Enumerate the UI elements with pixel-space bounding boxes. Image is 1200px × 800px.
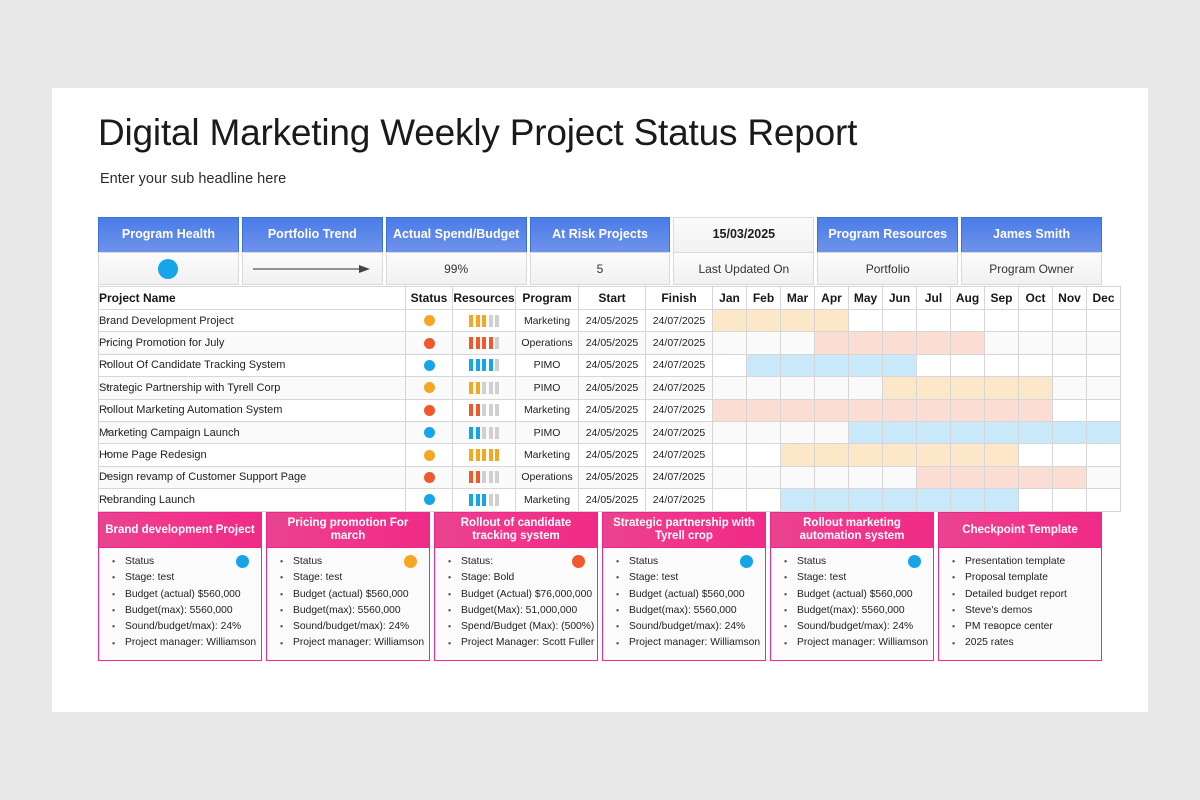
- cell-start: 24/05/2025: [579, 332, 646, 354]
- page-title: Digital Marketing Weekly Project Status …: [98, 112, 857, 154]
- gantt-bar-segment: [849, 399, 883, 421]
- list-item: •Status: [271, 554, 425, 570]
- cell-resources: [453, 421, 516, 443]
- gantt-bar-segment: [1087, 421, 1121, 443]
- list-item-label: Sound/budget/max): 24%: [125, 622, 241, 632]
- cell-start: 24/05/2025: [579, 399, 646, 421]
- bullet-icon: •: [112, 607, 115, 616]
- resource-bar: [495, 449, 499, 461]
- gantt-cell: [1053, 444, 1087, 466]
- cell-program: Operations: [516, 466, 579, 488]
- gantt-bar-segment: [815, 399, 849, 421]
- month-header-aug: Aug: [951, 287, 985, 310]
- gantt-bar-segment: [917, 466, 951, 488]
- gantt-cell: [1087, 466, 1121, 488]
- gantt-cell: [747, 444, 781, 466]
- table-row[interactable]: •Rollout Of Candidate Tracking SystemPIM…: [99, 354, 1121, 376]
- gantt-bar-segment: [985, 399, 1019, 421]
- gantt-cell: [1053, 332, 1087, 354]
- project-name-label: Rollout Of Candidate Tracking System: [99, 359, 285, 371]
- bullet-icon: •: [952, 607, 955, 616]
- gantt-cell: [815, 421, 849, 443]
- resource-bar: [489, 337, 493, 349]
- kpi-value: 5: [530, 252, 671, 285]
- bullet-icon: •: [106, 360, 110, 370]
- cell-status: [406, 444, 453, 466]
- gantt-bar-segment: [883, 399, 917, 421]
- list-item-label: Budget(max): 5560,000: [797, 606, 905, 616]
- bullet-icon: •: [448, 623, 451, 632]
- kpi-label: Actual Spend/Budget: [386, 217, 527, 252]
- kpi-card-5[interactable]: Program ResourcesPortfolio: [817, 217, 958, 285]
- gantt-bar-segment: [951, 466, 985, 488]
- gantt-cell: [1053, 354, 1087, 376]
- gantt-cell: [1087, 399, 1121, 421]
- cell-finish: 24/07/2025: [646, 466, 713, 488]
- status-dot-icon: [424, 360, 435, 371]
- list-item: •Project manager: Williamson: [271, 635, 425, 651]
- gantt-cell: [1087, 377, 1121, 399]
- gantt-cell: [747, 377, 781, 399]
- gantt-cell: [883, 310, 917, 332]
- gantt-bar-segment: [917, 421, 951, 443]
- gantt-bar-segment: [1019, 399, 1053, 421]
- list-item: •Sound/budget/max): 24%: [607, 619, 761, 635]
- gantt-bar-segment: [951, 399, 985, 421]
- cell-project-name: •Pricing Promotion for July: [99, 332, 406, 354]
- detail-list: •Status•Stage: test•Budget (actual) $560…: [103, 554, 257, 652]
- list-item: •Spend/Budget (Max): (500%): [439, 619, 593, 635]
- gantt-cell: [781, 421, 815, 443]
- kpi-card-2[interactable]: Actual Spend/Budget99%: [386, 217, 527, 285]
- resource-bar: [482, 449, 486, 461]
- table-header-row: Project NameStatusResourcesProgramStartF…: [99, 287, 1121, 310]
- table-row[interactable]: •Pricing Promotion for JulyOperations24/…: [99, 332, 1121, 354]
- list-item: •Status:: [439, 554, 593, 570]
- kpi-value: [242, 252, 383, 285]
- kpi-label: At Risk Projects: [530, 217, 671, 252]
- project-detail-cards: Brand development Project•Status•Stage: …: [98, 512, 1102, 661]
- resource-bar: [469, 404, 473, 416]
- project-name-label: Marketing Campaign Launch: [99, 427, 240, 439]
- list-item-label: Presentation template: [965, 557, 1065, 567]
- gantt-cell: [849, 377, 883, 399]
- detail-list: •Status:•Stage: Bold•Budget (Actual) $76…: [439, 554, 593, 652]
- detail-card[interactable]: Checkpoint Template•Presentation templat…: [938, 512, 1102, 661]
- gantt-cell: [1019, 354, 1053, 376]
- resource-bar: [476, 382, 480, 394]
- gantt-cell: [1053, 310, 1087, 332]
- resource-bar: [476, 471, 480, 483]
- cell-project-name: •Home Page Redesign: [99, 444, 406, 466]
- col-header-start[interactable]: Start: [579, 287, 646, 310]
- cell-program: PIMO: [516, 421, 579, 443]
- list-item: •Proposal template: [943, 570, 1097, 586]
- list-item-label: Budget (actual) $560,000: [293, 590, 409, 600]
- list-item: •Sound/budget/max): 24%: [271, 619, 425, 635]
- gantt-cell: [883, 466, 917, 488]
- list-item: •Budget(max): 5560,000: [607, 603, 761, 619]
- gantt-bar-segment: [1019, 377, 1053, 399]
- gantt-cell: [1087, 310, 1121, 332]
- month-header-dec: Dec: [1087, 287, 1121, 310]
- cell-status: [406, 377, 453, 399]
- list-item: •Stage: test: [271, 570, 425, 586]
- gantt-bar-segment: [747, 310, 781, 332]
- gantt-cell: [951, 310, 985, 332]
- gantt-cell: [781, 332, 815, 354]
- cell-status: [406, 421, 453, 443]
- gantt-cell: [1053, 489, 1087, 511]
- gantt-cell: [985, 310, 1019, 332]
- resource-bar: [469, 427, 473, 439]
- cell-program: Marketing: [516, 310, 579, 332]
- gantt-bar-segment: [985, 421, 1019, 443]
- detail-card-title: Pricing promotion For march: [266, 512, 430, 548]
- gantt-cell: [747, 332, 781, 354]
- list-item: •Status: [607, 554, 761, 570]
- list-item: •Presentation template: [943, 554, 1097, 570]
- bullet-icon: •: [280, 590, 283, 599]
- resource-bar: [469, 337, 473, 349]
- gantt-cell: [1019, 332, 1053, 354]
- gantt-bar-segment: [917, 332, 951, 354]
- resource-meter: [453, 449, 515, 461]
- gantt-cell: [713, 332, 747, 354]
- resource-bar: [476, 359, 480, 371]
- list-item-label: 2025 rates: [965, 638, 1014, 648]
- month-header-feb: Feb: [747, 287, 781, 310]
- list-item: •Stage: Bold: [439, 570, 593, 586]
- gantt-cell: [1019, 444, 1053, 466]
- gantt-cell: [781, 377, 815, 399]
- table-row[interactable]: •Brand Development ProjectMarketing24/05…: [99, 310, 1121, 332]
- status-dot-icon: [424, 427, 435, 438]
- cell-start: 24/05/2025: [579, 377, 646, 399]
- cell-start: 24/05/2025: [579, 444, 646, 466]
- resource-bar: [482, 315, 486, 327]
- list-item: •Steve's demos: [943, 603, 1097, 619]
- resource-bar: [482, 494, 486, 506]
- list-item-label: Sound/budget/max): 24%: [797, 622, 913, 632]
- list-item: •Stage: test: [103, 570, 257, 586]
- list-item-label: Steve's demos: [965, 606, 1032, 616]
- detail-card-title: Strategic partnership with Tyrell crop: [602, 512, 766, 548]
- table-row[interactable]: •Marketing Campaign LaunchPIMO24/05/2025…: [99, 421, 1121, 443]
- cell-project-name: •Strategic Partnership with Tyrell Corp: [99, 377, 406, 399]
- col-header-program[interactable]: Program: [516, 287, 579, 310]
- bullet-icon: •: [112, 623, 115, 632]
- project-name-label: Brand Development Project: [99, 315, 234, 327]
- cell-resources: [453, 310, 516, 332]
- cell-resources: [453, 444, 516, 466]
- table-row[interactable]: •Rebranding LaunchMarketing24/05/202524/…: [99, 489, 1121, 511]
- bullet-icon: •: [112, 558, 115, 567]
- gantt-bar-segment: [1019, 421, 1053, 443]
- kpi-label: 15/03/2025: [673, 217, 814, 252]
- table-row[interactable]: •Rollout Marketing Automation SystemMark…: [99, 399, 1121, 421]
- status-dot-icon: [424, 494, 435, 505]
- cell-resources: [453, 399, 516, 421]
- detail-list: •Status•Stage: test•Budget (actual) $560…: [775, 554, 929, 652]
- list-item-label: Stage: test: [797, 573, 846, 583]
- gantt-cell: [1087, 332, 1121, 354]
- table-row[interactable]: •Design revamp of Customer Support PageO…: [99, 466, 1121, 488]
- bullet-icon: •: [784, 590, 787, 599]
- cell-program: Marketing: [516, 489, 579, 511]
- kpi-card-4[interactable]: 15/03/2025Last Updated On: [673, 217, 814, 285]
- resource-bar: [489, 471, 493, 483]
- detail-card[interactable]: Strategic partnership with Tyrell crop•S…: [602, 512, 766, 661]
- cell-program: PIMO: [516, 354, 579, 376]
- resource-bar: [489, 494, 493, 506]
- resource-bar: [476, 337, 480, 349]
- bullet-icon: •: [448, 590, 451, 599]
- project-name-label: Rebranding Launch: [99, 494, 195, 506]
- resource-bar: [469, 382, 473, 394]
- gantt-bar-segment: [815, 489, 849, 511]
- bullet-icon: •: [112, 590, 115, 599]
- detail-card[interactable]: Rollout of candidate tracking system•Sta…: [434, 512, 598, 661]
- detail-card-title: Rollout of candidate tracking system: [434, 512, 598, 548]
- resource-bar: [469, 494, 473, 506]
- list-item-label: Budget (actual) $560,000: [797, 590, 913, 600]
- resource-bar: [482, 427, 486, 439]
- gantt-cell: [849, 310, 883, 332]
- resource-bar: [489, 382, 493, 394]
- list-item-label: Project manager: Williamson: [293, 638, 424, 648]
- resource-bar: [482, 382, 486, 394]
- status-dot-icon: [424, 450, 435, 461]
- cell-start: 24/05/2025: [579, 489, 646, 511]
- gantt-bar-segment: [883, 354, 917, 376]
- detail-card-body: •Presentation template•Proposal template…: [938, 548, 1102, 661]
- resource-bar: [495, 382, 499, 394]
- bullet-icon: •: [784, 639, 787, 648]
- project-name-label: Pricing Promotion for July: [99, 337, 224, 349]
- gantt-bar-segment: [883, 332, 917, 354]
- bullet-icon: •: [448, 558, 451, 567]
- kpi-card-3[interactable]: At Risk Projects5: [530, 217, 671, 285]
- list-item: •Project Manager: Scott Fuller: [439, 635, 593, 651]
- resource-bar: [482, 471, 486, 483]
- resource-bar: [495, 471, 499, 483]
- kpi-label: Program Resources: [817, 217, 958, 252]
- list-item-label: Sound/budget/max): 24%: [629, 622, 745, 632]
- list-item: •Budget(max): 5560,000: [775, 603, 929, 619]
- gantt-cell: [985, 354, 1019, 376]
- detail-card-body: •Status:•Stage: Bold•Budget (Actual) $76…: [434, 548, 598, 661]
- gantt-bar-segment: [781, 489, 815, 511]
- bullet-icon: •: [448, 607, 451, 616]
- gantt-cell: [1053, 399, 1087, 421]
- list-item: •Sound/budget/max): 24%: [775, 619, 929, 635]
- resource-bar: [476, 494, 480, 506]
- gantt-bar-segment: [883, 421, 917, 443]
- gantt-bar-segment: [747, 354, 781, 376]
- list-item-label: Status:: [461, 557, 493, 567]
- bullet-icon: •: [952, 574, 955, 583]
- bullet-icon: •: [280, 607, 283, 616]
- cell-start: 24/05/2025: [579, 310, 646, 332]
- resource-meter: [453, 337, 515, 349]
- bullet-icon: •: [280, 558, 283, 567]
- gantt-bar-segment: [781, 399, 815, 421]
- gantt-bar-segment: [815, 332, 849, 354]
- resource-bar: [495, 315, 499, 327]
- list-item-label: Spend/Budget (Max): (500%): [461, 622, 594, 632]
- month-header-oct: Oct: [1019, 287, 1053, 310]
- resource-meter: [453, 404, 515, 416]
- cell-program: Operations: [516, 332, 579, 354]
- bullet-icon: •: [280, 623, 283, 632]
- project-name-label: Home Page Redesign: [99, 449, 207, 461]
- slide-canvas: Digital Marketing Weekly Project Status …: [52, 88, 1148, 712]
- list-item-label: Budget(max): 5560,000: [629, 606, 737, 616]
- table-row[interactable]: •Strategic Partnership with Tyrell CorpP…: [99, 377, 1121, 399]
- detail-card-body: •Status•Stage: test•Budget (actual) $560…: [98, 548, 262, 661]
- resource-bar: [495, 404, 499, 416]
- cell-finish: 24/07/2025: [646, 332, 713, 354]
- status-dot-icon: [424, 405, 435, 416]
- bullet-icon: •: [952, 558, 955, 567]
- resource-bar: [495, 427, 499, 439]
- resource-bar: [476, 315, 480, 327]
- cell-status: [406, 332, 453, 354]
- kpi-card-0[interactable]: Program Health: [98, 217, 239, 285]
- list-item: •Stage: test: [775, 570, 929, 586]
- detail-card[interactable]: Pricing promotion For march•Status•Stage…: [266, 512, 430, 661]
- cell-project-name: •Rebranding Launch: [99, 489, 406, 511]
- gantt-bar-segment: [883, 489, 917, 511]
- list-item-label: Project Manager: Scott Fuller: [461, 638, 594, 648]
- cell-resources: [453, 466, 516, 488]
- bullet-icon: •: [280, 639, 283, 648]
- gantt-bar-segment: [849, 421, 883, 443]
- cell-finish: 24/07/2025: [646, 354, 713, 376]
- gantt-bar-segment: [917, 399, 951, 421]
- bullet-icon: •: [952, 623, 955, 632]
- col-header-status[interactable]: Status: [406, 287, 453, 310]
- gantt-cell: [713, 377, 747, 399]
- list-item-label: PM теворсе center: [965, 622, 1053, 632]
- kpi-value: Program Owner: [961, 252, 1102, 285]
- list-item-label: Status: [797, 557, 826, 567]
- cell-start: 24/05/2025: [579, 466, 646, 488]
- status-dot-icon: [424, 472, 435, 483]
- list-item-label: Stage: test: [629, 573, 678, 583]
- gantt-cell: [1053, 377, 1087, 399]
- detail-list: •Presentation template•Proposal template…: [943, 554, 1097, 652]
- cell-status: [406, 399, 453, 421]
- bullet-icon: •: [784, 574, 787, 583]
- month-header-mar: Mar: [781, 287, 815, 310]
- gantt-bar-segment: [985, 377, 1019, 399]
- cell-status: [406, 354, 453, 376]
- gantt-cell: [713, 421, 747, 443]
- gantt-cell: [849, 466, 883, 488]
- bullet-icon: •: [616, 607, 619, 616]
- gantt-cell: [1019, 489, 1053, 511]
- list-item-label: Status: [125, 557, 154, 567]
- list-item-label: Budget (Actual) $76,000,000: [461, 590, 592, 600]
- resource-bar: [476, 449, 480, 461]
- detail-card[interactable]: Rollout marketing automation system•Stat…: [770, 512, 934, 661]
- list-item: •Status: [103, 554, 257, 570]
- list-item: •Status: [775, 554, 929, 570]
- gantt-bar-segment: [1053, 421, 1087, 443]
- resource-bar: [489, 427, 493, 439]
- kpi-card-1[interactable]: Portfolio Trend: [242, 217, 383, 285]
- list-item-label: Project manager: Williamson: [629, 638, 760, 648]
- gantt-bar-segment: [849, 354, 883, 376]
- kpi-label: Program Health: [98, 217, 239, 252]
- resource-bar: [495, 359, 499, 371]
- list-item: •Budget (Actual) $76,000,000: [439, 587, 593, 603]
- resource-meter: [453, 427, 515, 439]
- list-item-label: Budget(max): 5560,000: [125, 606, 233, 616]
- resource-bar: [489, 315, 493, 327]
- gantt-bar-segment: [883, 444, 917, 466]
- gantt-cell: [713, 354, 747, 376]
- kpi-strip: Program HealthPortfolio TrendActual Spen…: [98, 217, 1102, 285]
- cell-status: [406, 466, 453, 488]
- cell-project-name: •Rollout Of Candidate Tracking System: [99, 354, 406, 376]
- bullet-icon: •: [106, 405, 110, 415]
- gantt-bar-segment: [849, 332, 883, 354]
- bullet-icon: •: [106, 338, 110, 348]
- list-item: •Stage: test: [607, 570, 761, 586]
- resource-bar: [489, 359, 493, 371]
- col-header-resources[interactable]: Resources: [453, 287, 516, 310]
- gantt-cell: [1019, 310, 1053, 332]
- bullet-icon: •: [784, 623, 787, 632]
- detail-card-title: Checkpoint Template: [938, 512, 1102, 548]
- bullet-icon: •: [112, 639, 115, 648]
- list-item: •Sound/budget/max): 24%: [103, 619, 257, 635]
- table-header: Project NameStatusResourcesProgramStartF…: [99, 287, 1121, 310]
- resource-bar: [469, 471, 473, 483]
- list-item: •PM теворсе center: [943, 619, 1097, 635]
- cell-finish: 24/07/2025: [646, 421, 713, 443]
- resource-meter: [453, 494, 515, 506]
- resource-bar: [495, 337, 499, 349]
- kpi-value: [98, 252, 239, 285]
- col-header-finish[interactable]: Finish: [646, 287, 713, 310]
- gantt-bar-segment: [917, 377, 951, 399]
- gantt-bar-segment: [713, 399, 747, 421]
- bullet-icon: •: [448, 639, 451, 648]
- bullet-icon: •: [616, 558, 619, 567]
- cell-resources: [453, 354, 516, 376]
- detail-card[interactable]: Brand development Project•Status•Stage: …: [98, 512, 262, 661]
- gantt-bar-segment: [781, 354, 815, 376]
- resource-bar: [469, 359, 473, 371]
- col-header-project-name[interactable]: Project Name: [99, 287, 406, 310]
- bullet-icon: •: [784, 607, 787, 616]
- gantt-bar-segment: [747, 399, 781, 421]
- detail-list: •Status•Stage: test•Budget (actual) $560…: [271, 554, 425, 652]
- table-body: •Brand Development ProjectMarketing24/05…: [99, 310, 1121, 512]
- list-item: •Project manager: Williamson: [775, 635, 929, 651]
- bullet-icon: •: [784, 558, 787, 567]
- table-row[interactable]: •Home Page RedesignMarketing24/05/202524…: [99, 444, 1121, 466]
- month-header-apr: Apr: [815, 287, 849, 310]
- gantt-cell: [713, 466, 747, 488]
- gantt-bar-segment: [917, 489, 951, 511]
- kpi-card-6[interactable]: James SmithProgram Owner: [961, 217, 1102, 285]
- cell-finish: 24/07/2025: [646, 377, 713, 399]
